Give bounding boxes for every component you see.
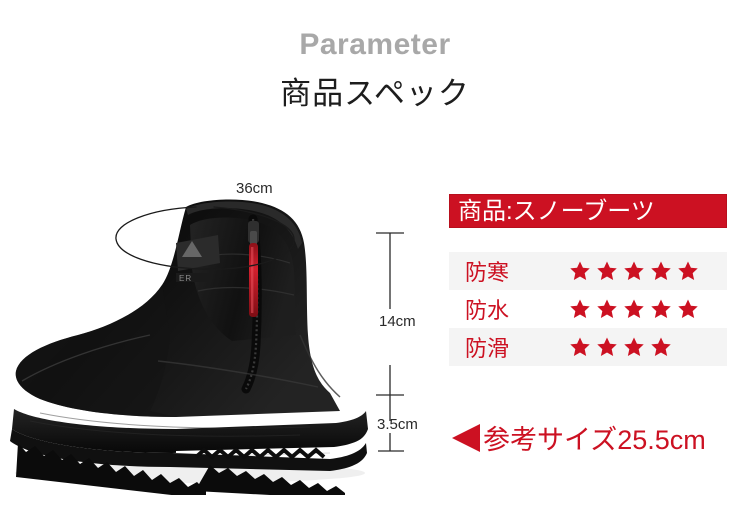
zipper-pull bbox=[248, 221, 259, 317]
star-icon bbox=[569, 336, 591, 358]
dimension-sole-height-label: 3.5cm bbox=[377, 416, 418, 433]
dimension-shaft-height-label: 14cm bbox=[379, 313, 416, 330]
star-icon bbox=[623, 260, 645, 282]
star-rating-waterproof bbox=[569, 298, 699, 320]
spec-row-anti-slip: 防滑 bbox=[449, 328, 727, 366]
spec-row-cold-resistance: 防寒 bbox=[449, 252, 727, 290]
spec-label-anti-slip: 防滑 bbox=[465, 331, 569, 363]
left-triangle-icon bbox=[450, 422, 482, 454]
product-photo: ER bbox=[0, 185, 420, 495]
svg-text:ER: ER bbox=[179, 274, 192, 283]
page-title-jp: 商品スペック bbox=[0, 68, 750, 113]
spec-panel: 商品:スノーブーツ 防寒 防水 防滑 bbox=[449, 194, 727, 366]
star-icon bbox=[596, 260, 618, 282]
star-icon bbox=[623, 298, 645, 320]
star-icon bbox=[623, 336, 645, 358]
snow-boot-illustration: ER bbox=[0, 185, 420, 495]
star-icon bbox=[596, 298, 618, 320]
reference-size-text: 参考サイズ25.5cm bbox=[483, 418, 706, 457]
spec-label-waterproof: 防水 bbox=[465, 293, 569, 325]
star-icon bbox=[650, 298, 672, 320]
page-title-en: Parameter bbox=[0, 28, 750, 62]
star-rating-cold-resistance bbox=[569, 260, 699, 282]
star-icon bbox=[677, 260, 699, 282]
star-icon bbox=[650, 336, 672, 358]
product-spec-page: Parameter 商品スペック bbox=[0, 0, 750, 524]
dimension-girth-label: 36cm bbox=[236, 180, 273, 197]
star-icon bbox=[677, 298, 699, 320]
spec-label-cold-resistance: 防寒 bbox=[465, 255, 569, 287]
star-icon bbox=[596, 336, 618, 358]
spec-row-waterproof: 防水 bbox=[449, 290, 727, 328]
star-icon bbox=[569, 260, 591, 282]
star-icon bbox=[650, 260, 672, 282]
spec-title-bar: 商品:スノーブーツ bbox=[449, 194, 727, 228]
star-rating-anti-slip bbox=[569, 336, 672, 358]
star-icon bbox=[569, 298, 591, 320]
spec-rows: 防寒 防水 防滑 bbox=[449, 252, 727, 366]
reference-size-note: 参考サイズ25.5cm bbox=[450, 418, 706, 457]
